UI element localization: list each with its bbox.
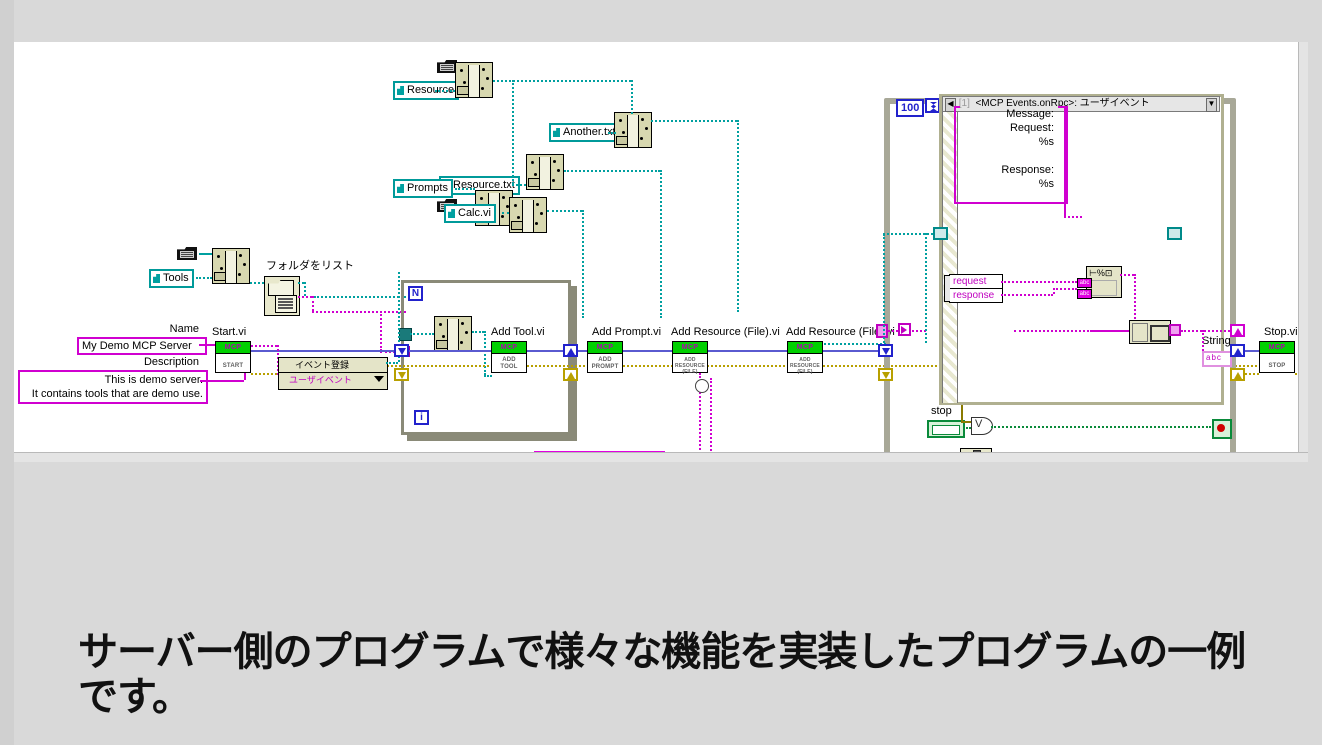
wire <box>824 343 886 345</box>
wire <box>737 120 739 312</box>
subvi-header-label: MCP <box>1260 342 1294 354</box>
wire <box>250 282 264 284</box>
wire <box>1245 373 1259 375</box>
wire <box>1181 330 1237 332</box>
build-path-icon <box>434 316 472 352</box>
string-control-name[interactable]: My Demo MCP Server <box>77 337 207 355</box>
dynamic-event-terminal-right <box>1167 227 1182 240</box>
string-indicator-terminal[interactable]: abc <box>1202 351 1232 367</box>
node-label-list-folder: フォルダをリスト <box>266 261 354 273</box>
wire <box>1245 350 1259 352</box>
register-event-title: イベント登録 <box>279 358 387 373</box>
diagram-vertical-scrollbar[interactable] <box>1298 42 1308 462</box>
wire <box>410 333 434 335</box>
subvi-body-label: STOP <box>1260 354 1294 376</box>
diagram-horizontal-scrollbar[interactable] <box>14 452 1308 462</box>
subvi-body: ADD TOOL <box>492 354 526 376</box>
wire <box>708 350 787 352</box>
for-loop-shadow-bottom <box>407 435 577 441</box>
description-line-1: This is demo server. <box>23 373 203 387</box>
wire <box>304 282 306 296</box>
format-glyph: ⊢%⊡ <box>1089 268 1112 279</box>
wire <box>631 80 633 114</box>
wire <box>1001 294 1053 296</box>
wire <box>963 427 971 429</box>
wire <box>1120 274 1134 276</box>
build-path-icon <box>509 197 547 233</box>
wire <box>954 106 960 108</box>
node-label-add-resource-file-vi-1: Add Resource (File).vi <box>671 327 780 339</box>
subvi-body-line-2: TOOL <box>492 364 526 371</box>
wire <box>512 80 514 184</box>
for-loop-count-terminal <box>408 286 423 301</box>
for-loop-output-tunnel-blue <box>563 344 578 357</box>
subvi-body: ADD RESOURCE (FILE) <box>788 354 822 376</box>
slide-caption: サーバー側のプログラムで様々な機能を実装したプログラムの一例です。 <box>78 630 1278 720</box>
wire <box>196 277 212 279</box>
wire <box>582 210 584 318</box>
build-path-icon <box>455 62 493 98</box>
wire <box>472 331 484 333</box>
chevron-down-icon[interactable] <box>374 376 384 382</box>
path-constant-prompts[interactable]: Prompts <box>393 179 453 198</box>
unbundle-stub <box>944 275 950 302</box>
subvi-add-resource-1[interactable]: MCP ADD RESOURCE (FILE) <box>672 341 708 373</box>
subvi-body-line-3: (FILE) <box>788 369 822 375</box>
format-string-pin-1: abc <box>1077 278 1092 288</box>
subvi-body: ADD RESOURCE (FILE) <box>673 354 707 376</box>
node-label-string-indicator: String <box>1202 336 1231 348</box>
subvi-add-tool[interactable]: MCP ADD TOOL <box>491 341 527 373</box>
slide-left-rail <box>0 0 14 745</box>
subvi-body: ADD PROMPT <box>588 354 622 376</box>
slide-canvas: Resource Another.txt Resource.txt <box>0 0 1322 745</box>
boolean-control-stop[interactable] <box>927 420 965 438</box>
while-loop-output-tunnel-blue <box>1230 344 1245 357</box>
wire <box>314 296 406 298</box>
subvi-body-line-1: ADD <box>588 357 622 364</box>
wire <box>199 344 215 346</box>
node-label-stop-boolean: stop <box>931 406 952 418</box>
while-loop-input-tunnel-blue <box>878 344 893 357</box>
subvi-body-label: START <box>216 354 250 376</box>
subvi-start[interactable]: MCP START <box>215 341 251 373</box>
bundle-dot-icon <box>695 379 709 393</box>
labview-block-diagram[interactable]: Resource Another.txt Resource.txt <box>14 42 1308 462</box>
control-caption-description: Description <box>124 357 199 369</box>
folder-icon <box>177 245 199 261</box>
for-loop-iteration-terminal <box>414 410 429 425</box>
wire <box>512 184 526 186</box>
concatenate-strings-icon <box>1129 320 1171 344</box>
subvi-header-label: MCP <box>588 342 622 354</box>
wire <box>710 378 712 462</box>
wire <box>484 375 492 377</box>
list-folder-icon <box>264 276 300 316</box>
subvi-add-resource-2[interactable]: MCP ADD RESOURCE (FILE) <box>787 341 823 373</box>
wire <box>251 345 277 347</box>
wire <box>1202 330 1204 351</box>
unbundle-cluster-node[interactable]: request response <box>949 274 1003 303</box>
wire <box>312 311 406 313</box>
node-label-add-prompt-vi: Add Prompt.vi <box>592 327 661 339</box>
path-constant-tools[interactable]: Tools <box>149 269 194 288</box>
wire <box>251 373 277 375</box>
or-gate-icon <box>971 417 993 435</box>
wire <box>312 296 314 311</box>
wire <box>991 426 1211 428</box>
build-path-icon <box>614 112 652 148</box>
node-label-stop-vi: Stop.vi <box>1264 327 1298 339</box>
wire <box>883 233 885 343</box>
wire <box>660 170 662 318</box>
register-event-selected[interactable]: ユーザイベント <box>279 373 387 388</box>
wire <box>484 331 486 375</box>
wire <box>435 90 455 92</box>
subvi-stop[interactable]: MCP STOP <box>1259 341 1295 373</box>
wire <box>1014 330 1129 332</box>
format-string-pin-2: abc <box>1077 289 1092 299</box>
path-constant-calc-vi[interactable]: Calc.vi <box>444 204 496 223</box>
case-dropdown-arrow-icon[interactable]: ▼ <box>1206 98 1217 112</box>
wire <box>925 233 927 343</box>
unbundle-element-response: response <box>950 289 1002 302</box>
wire <box>502 212 509 214</box>
wire <box>1053 288 1077 290</box>
for-loop-shadow <box>571 286 577 441</box>
wire <box>883 233 933 235</box>
event-structure-icon <box>925 98 940 113</box>
for-loop-input-tunnel-yellow <box>394 368 409 381</box>
wire <box>380 311 382 351</box>
wire <box>1001 281 1077 283</box>
while-loop-input-tunnel-magenta <box>876 324 888 338</box>
wire <box>298 296 312 298</box>
subvi-header-label: MCP <box>216 342 250 354</box>
subvi-body-line-3: (FILE) <box>673 369 707 375</box>
wire <box>1064 216 1082 218</box>
abc-glyph: abc <box>1206 353 1222 362</box>
subvi-body-line-2: PROMPT <box>588 364 622 371</box>
description-line-2: It contains tools that are demo use. <box>23 387 203 401</box>
stop-condition-icon[interactable] <box>1212 419 1232 439</box>
wire <box>547 210 582 212</box>
event-structure-output-tunnel <box>1169 324 1181 336</box>
build-path-icon <box>212 248 250 284</box>
for-loop-output-tunnel-yellow <box>563 368 578 381</box>
node-label-add-tool-vi: Add Tool.vi <box>491 327 545 339</box>
wire <box>386 362 398 364</box>
while-loop-output-tunnel-magenta <box>1230 324 1245 337</box>
while-loop-output-tunnel-yellow <box>1230 368 1245 381</box>
subvi-header-label: MCP <box>492 342 526 354</box>
build-path-icon <box>526 154 564 190</box>
wire <box>564 170 660 172</box>
wire <box>961 421 971 423</box>
while-loop-input-tunnel-yellow <box>878 368 893 381</box>
event-timeout-constant[interactable]: 100 <box>896 99 924 117</box>
wire <box>455 188 475 190</box>
wire <box>651 120 737 122</box>
dynamic-event-terminal-left <box>933 227 948 240</box>
wire <box>1064 106 1066 216</box>
format-string-constant-outline[interactable] <box>954 106 1068 204</box>
wire <box>199 253 212 255</box>
register-for-events-node[interactable]: イベント登録 ユーザイベント <box>278 357 388 390</box>
wire <box>608 132 616 134</box>
wire <box>823 350 878 352</box>
string-control-description[interactable]: This is demo server. It contains tools t… <box>18 370 208 404</box>
unbundle-element-request: request <box>950 275 1002 289</box>
subvi-header-label: MCP <box>673 342 707 354</box>
wire <box>961 405 963 421</box>
node-label-start-vi: Start.vi <box>212 327 246 339</box>
subvi-add-prompt[interactable]: MCP ADD PROMPT <box>587 341 623 373</box>
subvi-body-line-1: ADD <box>492 357 526 364</box>
wire <box>200 380 244 382</box>
control-caption-name: Name <box>134 324 199 336</box>
for-loop-input-tunnel-blue <box>394 344 409 357</box>
shift-register-left-arrow <box>901 326 907 334</box>
subvi-header-label: MCP <box>788 342 822 354</box>
